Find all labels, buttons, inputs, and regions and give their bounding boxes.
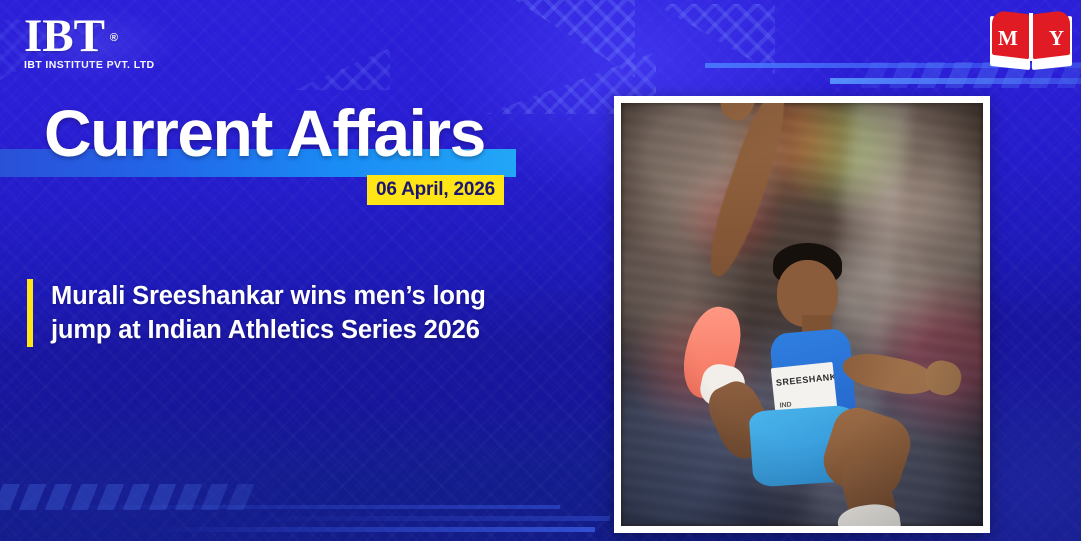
registered-trademark-icon: ® xyxy=(110,16,118,60)
current-affairs-poster: IBT® IBT INSTITUTE PVT. LTD M Y Current … xyxy=(0,0,1081,541)
diamond-pattern-a xyxy=(515,0,635,78)
my-book-logo[interactable]: M Y xyxy=(989,8,1073,70)
date-badge: 06 April, 2026 xyxy=(367,175,504,205)
speed-line-3 xyxy=(40,505,560,509)
glow-decoration-bottom-left xyxy=(0,360,340,541)
news-photo: SREESHANKAR IND xyxy=(621,103,983,526)
headline-block: Murali Sreeshankar wins men’s long jump … xyxy=(27,279,547,347)
slanted-stripes-bottom xyxy=(0,484,249,510)
my-logo-letter-m: M xyxy=(998,28,1018,49)
diamond-pattern-d xyxy=(295,48,390,90)
ibt-logo-wordmark: IBT® xyxy=(24,14,105,58)
page-title: Current Affairs xyxy=(44,100,485,166)
news-photo-frame: SREESHANKAR IND xyxy=(614,96,990,533)
headline-accent-bar xyxy=(27,279,33,347)
speed-line-5 xyxy=(250,516,610,521)
speed-line-2 xyxy=(830,78,1081,84)
speed-line-4 xyxy=(155,527,595,532)
book-spine xyxy=(1029,13,1033,61)
open-book-icon: M Y xyxy=(989,8,1073,70)
diamond-pattern-b xyxy=(655,4,775,74)
headline-text: Murali Sreeshankar wins men’s long jump … xyxy=(51,279,547,347)
race-bib-name: SREESHANKAR xyxy=(776,371,837,389)
ibt-logo[interactable]: IBT® IBT INSTITUTE PVT. LTD xyxy=(24,14,164,71)
my-logo-letter-y: Y xyxy=(1049,28,1064,49)
